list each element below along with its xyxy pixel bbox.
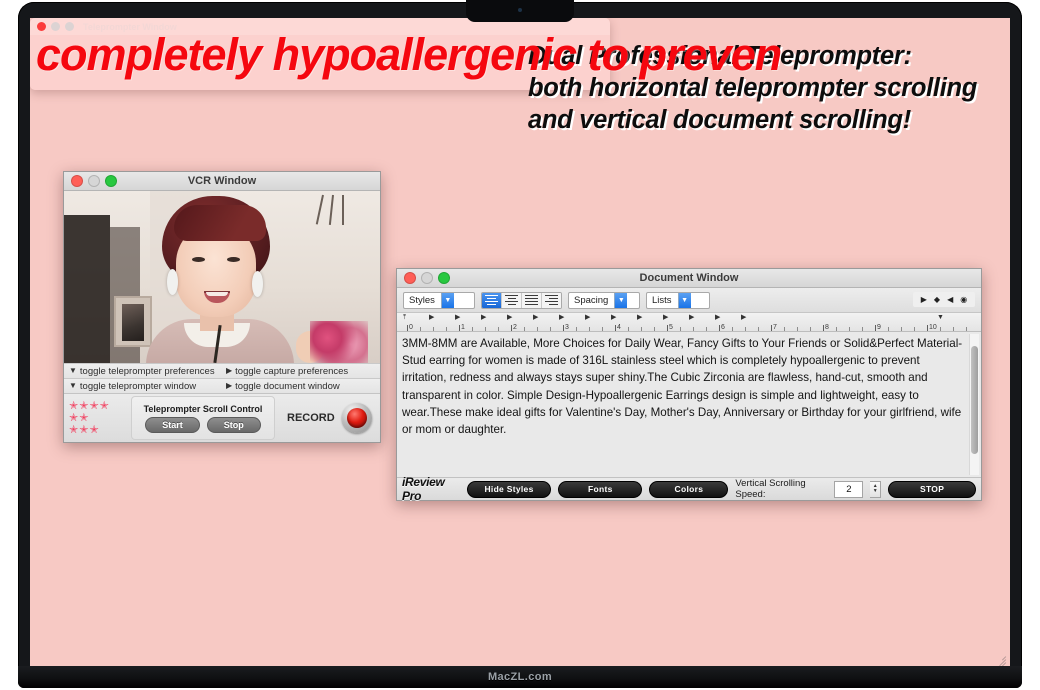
align-center-button[interactable] [502,293,522,308]
record-dot-icon [347,408,367,428]
ruler-tab-marker[interactable]: ▶ [585,314,590,322]
scroll-control-title: Teleprompter Scroll Control [144,404,263,414]
ruler-tick-minor [472,327,473,331]
document-scrollbar-thumb[interactable] [971,346,978,454]
styles-dropdown[interactable]: Styles ▼ [403,292,475,309]
star-icon: ✭ [69,425,78,436]
rating-row: ✭✭ [69,413,129,424]
ruler-tick-label: 8 [825,324,829,331]
document-body-text: 3MM-8MM are Available, More Choices for … [402,335,963,438]
toggle-teleprompter-window-label: toggle teleprompter window [80,381,196,392]
rating-row: ✭✭✭✭ [69,401,129,412]
document-text-area[interactable]: 3MM-8MM are Available, More Choices for … [397,332,981,477]
toggle-row-windows: ▼ toggle teleprompter window ▶ toggle do… [64,378,380,393]
fonts-button[interactable]: Fonts [558,481,642,498]
star-icon: ✭ [79,401,88,412]
ruler-tick-major [563,325,564,331]
ruler-tick-minor [914,327,915,331]
ruler-tick-major [927,325,928,331]
ruler-tick-minor [420,327,421,331]
ruler-tick-minor [641,327,642,331]
ruler-tick-label: 2 [513,324,517,331]
scrolling-speed-input[interactable]: 2 [834,481,863,498]
maximize-button[interactable] [105,175,117,187]
video-subject-eye-right [227,257,240,262]
ruler-tab-marker[interactable]: ▶ [715,314,720,322]
ruler-indent-marker[interactable]: ▼ [937,314,944,322]
ruler-tab-marker[interactable]: ⤒ [403,314,406,322]
record-button[interactable] [342,403,372,433]
lists-dropdown-label: Lists [647,295,678,306]
star-icon: ✭ [100,401,109,412]
ruler-tick-label: 10 [929,324,937,331]
ruler-tab-marker[interactable]: ▶ [533,314,538,322]
lists-dropdown[interactable]: Lists ▼ [646,292,710,309]
toggle-document-window[interactable]: ▶ toggle document window [221,381,340,392]
ruler-tick-major [407,325,408,331]
ruler-tick-minor [797,327,798,331]
ruler-ticks: 012345678910 [397,322,981,331]
triangle-down-icon: ▼ [69,382,77,390]
ruler-tick-minor [836,327,837,331]
ruler-tick-minor [446,327,447,331]
minimize-button[interactable] [88,175,100,187]
headline-line-3: and vertical document scrolling! [528,104,1010,136]
star-icon: ✭ [69,413,78,424]
ruler-tick-minor [953,327,954,331]
toolbar-nav-group[interactable]: ▶ ◆ ◀ ◉ [913,292,975,307]
ruler-tick-label: 0 [409,324,413,331]
ruler-tick-minor [966,327,967,331]
ruler-tick-major [615,325,616,331]
chevron-down-icon: ▼ [678,293,691,308]
video-subject-earring-right [252,271,263,297]
ruler-tick-minor [628,327,629,331]
ruler-tab-marker[interactable]: ▶ [455,314,460,322]
vcr-control-bar: ✭✭✭✭ ✭✭ ✭✭✭ Teleprompter Scroll Control … [64,393,380,442]
ruler-tab-marker[interactable]: ▶ [559,314,564,322]
document-window-title: Document Window [397,272,981,284]
document-scrollbar[interactable] [969,334,979,475]
ruler-tick-major [459,325,460,331]
star-icon: ✭ [89,401,98,412]
ruler-tick-minor [940,327,941,331]
ruler-tab-marker[interactable]: ▶ [663,314,668,322]
ruler-tick-minor [602,327,603,331]
video-wall-hooks [316,195,360,231]
triangle-right-icon: ▶ [226,367,232,375]
chevron-down-icon: ▼ [441,293,454,308]
document-titlebar[interactable]: Document Window [397,269,981,288]
ruler-tick-label: 6 [721,324,725,331]
screenshot-root: Dual Professional Teleprompter: both hor… [0,0,1040,690]
colors-button[interactable]: Colors [649,481,728,498]
ruler-tick-major [875,325,876,331]
scroll-stop-button[interactable]: Stop [207,417,261,433]
toggle-row-preferences: ▼ toggle teleprompter preferences ▶ togg… [64,363,380,378]
chevron-down-icon: ▼ [614,293,627,308]
ruler-tick-major [771,325,772,331]
toggle-document-window-label: toggle document window [235,381,340,392]
ruler-tab-marker[interactable]: ▶ [507,314,512,322]
ruler-tick-minor [810,327,811,331]
hide-styles-button[interactable]: Hide Styles [467,481,551,498]
video-subject-eye-left [192,257,205,262]
document-window[interactable]: Document Window Styles ▼ [396,268,982,501]
ruler-tick-minor [485,327,486,331]
ruler-tick-label: 7 [773,324,777,331]
ruler-tick-label: 9 [877,324,881,331]
ruler-tick-minor [693,327,694,331]
scroll-start-button[interactable]: Start [145,417,200,433]
ruler-tick-label: 3 [565,324,569,331]
spacing-dropdown[interactable]: Spacing ▼ [568,292,640,309]
ruler-tick-label: 5 [669,324,673,331]
styles-dropdown-label: Styles [404,295,441,306]
laptop-chin: MacZL.com [18,666,1022,688]
star-icon: ✭ [89,425,98,436]
ruler-tick-minor [706,327,707,331]
vcr-window[interactable]: VCR Window [63,171,381,443]
play-forward-icon[interactable]: ▶ [921,295,927,304]
laptop-screen: Dual Professional Teleprompter: both hor… [30,18,1010,668]
ruler-tick-minor [680,327,681,331]
align-justify-button[interactable] [522,293,542,308]
ruler-tick-minor [758,327,759,331]
ruler-tick-minor [901,327,902,331]
window-controls[interactable] [64,175,117,187]
document-stop-button[interactable]: STOP [888,481,976,498]
app-brand-label: iReview Pro [402,475,460,503]
star-icon: ✭ [69,401,78,412]
vcr-titlebar[interactable]: VCR Window [64,172,380,191]
toggle-teleprompter-preferences-label: toggle teleprompter preferences [80,366,215,377]
stepper-down-icon[interactable]: ▼ [873,489,878,494]
ruler-tab-marker[interactable]: ▶ [429,314,434,322]
ruler-tick-minor [524,327,525,331]
ruler-tick-major [667,325,668,331]
ruler-tick-minor [498,327,499,331]
window-controls[interactable] [397,272,450,284]
ruler-tick-minor [784,327,785,331]
ruler-tab-marker[interactable]: ▶ [637,314,642,322]
triangle-down-icon: ▼ [69,367,77,375]
ruler-tab-marker[interactable]: ▶ [741,314,746,322]
toggle-capture-preferences-label: toggle capture preferences [235,366,348,377]
record-label: RECORD [287,412,335,424]
ruler-tab-marker[interactable]: ▶ [481,314,486,322]
video-picture-frame [114,296,152,347]
ruler-tick-minor [849,327,850,331]
teleprompter-window[interactable]: Teleprompter Window completely hypoaller… [30,18,610,90]
alignment-button-group [481,292,562,309]
spacing-dropdown-label: Spacing [569,295,614,306]
toggle-teleprompter-window[interactable]: ▼ toggle teleprompter window [64,381,221,392]
record-section: RECORD [287,403,372,433]
record-circle-icon[interactable]: ◉ [960,295,967,304]
close-button[interactable] [71,175,83,187]
ruler-tick-minor [888,327,889,331]
triangle-right-icon: ▶ [226,382,232,390]
ruler-tick-minor [654,327,655,331]
ruler-tick-minor [745,327,746,331]
ruler-tick-major [823,325,824,331]
ruler-tick-label: 1 [461,324,465,331]
document-ruler[interactable]: ⤒▶▶▶▶▶▶▶▶▶▶▶▶▶▼ 012345678910 [397,313,981,332]
video-flowers [310,321,368,363]
video-preview [64,191,380,363]
diamond-icon[interactable]: ◆ [934,295,940,304]
webcam-icon [518,8,522,12]
scrolling-speed-stepper[interactable]: ▲ ▼ [870,481,881,498]
document-status-bar: iReview Pro Hide Styles Fonts Colors Ver… [397,477,981,500]
ruler-tick-minor [732,327,733,331]
align-right-button[interactable] [542,293,561,308]
star-icon: ✭ [79,413,88,424]
scrolling-speed-label: Vertical Scrolling Speed: [735,478,827,500]
teleprompter-scrolling-text: completely hypoallergenic to preven [36,29,610,81]
video-subject-earring-left [167,269,178,295]
ruler-tick-minor [550,327,551,331]
align-left-button[interactable] [482,293,502,308]
ruler-tab-marker[interactable]: ▶ [611,314,616,322]
ruler-tab-marker[interactable]: ▶ [689,314,694,322]
ruler-tick-minor [862,327,863,331]
scroll-control-buttons: Start Stop [145,417,261,433]
ruler-tick-minor [433,327,434,331]
video-subject-teeth [206,292,228,296]
document-toolbar: Styles ▼ [397,288,981,313]
toggle-teleprompter-preferences[interactable]: ▼ toggle teleprompter preferences [64,366,221,377]
ruler-tick-minor [537,327,538,331]
play-back-icon[interactable]: ◀ [947,295,953,304]
ruler-tick-minor [589,327,590,331]
ruler-tick-major [719,325,720,331]
video-doorway [64,215,110,363]
laptop-brand-label: MacZL.com [488,671,552,683]
toggle-capture-preferences[interactable]: ▶ toggle capture preferences [221,366,348,377]
star-icon: ✭ [79,425,88,436]
ruler-tick-major [511,325,512,331]
rating-row: ✭✭✭ [69,425,129,436]
minimize-button[interactable] [421,272,433,284]
ruler-tick-minor [576,327,577,331]
close-button[interactable] [404,272,416,284]
video-subject-bangs [174,205,266,241]
rating-stars[interactable]: ✭✭✭✭ ✭✭ ✭✭✭ [64,401,129,436]
ruler-tick-label: 4 [617,324,621,331]
maximize-button[interactable] [438,272,450,284]
teleprompter-scroll-control: Teleprompter Scroll Control Start Stop [131,396,275,440]
